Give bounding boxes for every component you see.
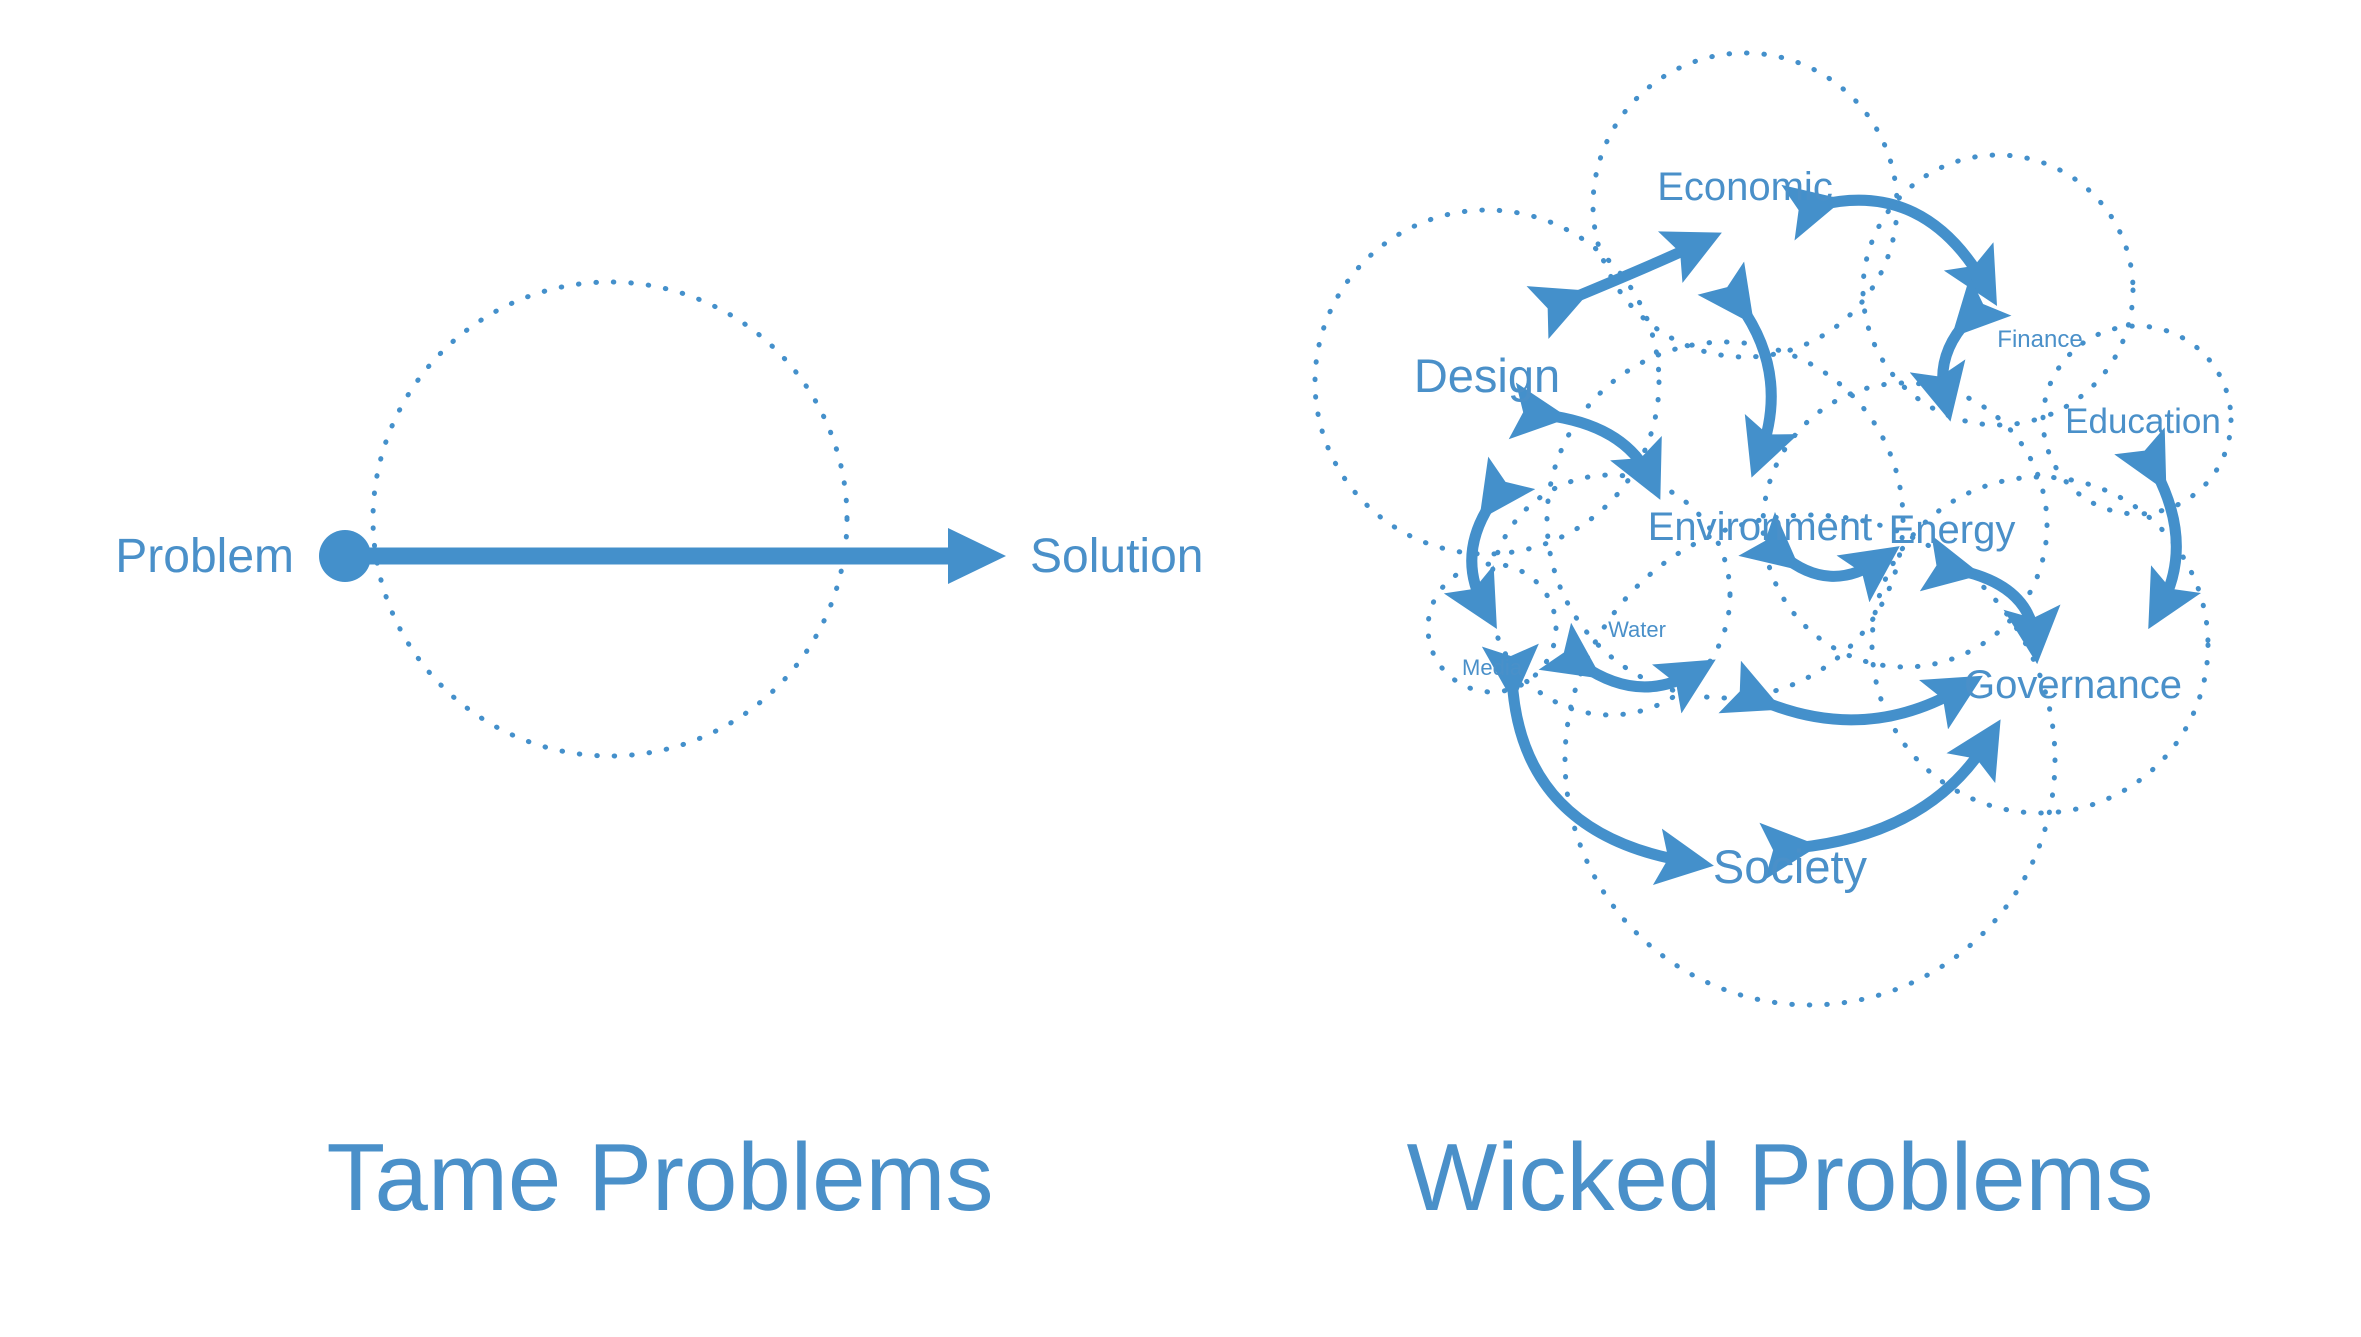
arrow-society-governance <box>1795 740 1988 848</box>
label-finance: Finance <box>1997 326 2082 353</box>
label-governance: Governance <box>1964 663 2182 707</box>
label-society: Society <box>1713 840 1868 893</box>
tame-boundary-circle <box>373 282 847 756</box>
arrow-design-environment <box>1545 415 1650 478</box>
wicked-tame-problems-diagram: Problem Solution Tame Problems <box>0 0 2361 1337</box>
wicked-problems-panel: Economic Design Finance Education Enviro… <box>1315 53 2231 1231</box>
circle-society <box>1565 515 2055 1005</box>
solution-label: Solution <box>1030 530 1203 583</box>
arrow-water-governance <box>1760 688 1962 720</box>
label-water: Water <box>1608 617 1666 642</box>
wicked-problems-caption: Wicked Problems <box>1407 1124 2154 1231</box>
label-energy: Energy <box>1889 508 2016 552</box>
problem-to-solution-arrow <box>319 528 1006 584</box>
label-design: Design <box>1414 349 1560 402</box>
arrow-finance-energy <box>1943 320 1968 398</box>
label-environment: Environment <box>1648 505 1873 549</box>
slide-canvas: Problem Solution Tame Problems <box>0 0 2361 1337</box>
label-economic: Economic <box>1657 165 1833 209</box>
arrow-economic-finance <box>1820 200 1985 285</box>
arrow-environment-energy <box>1782 555 1880 576</box>
arrow-energy-governance <box>1958 570 2035 640</box>
tame-problems-caption: Tame Problems <box>327 1124 994 1231</box>
wicked-node-labels: Economic Design Finance Education Enviro… <box>1414 165 2221 893</box>
arrow-education-governance <box>2155 470 2176 608</box>
arrow-head-icon <box>948 528 1006 584</box>
arrow-media-society <box>1512 678 1690 862</box>
tame-problems-panel: Problem Solution Tame Problems <box>115 282 1203 1231</box>
label-media: Media <box>1462 655 1523 680</box>
problem-label: Problem <box>115 530 294 583</box>
arrow-design-media <box>1472 500 1493 608</box>
arrow-economic-environment <box>1740 305 1771 455</box>
label-education: Education <box>2065 402 2221 441</box>
arrow-design-economic <box>1568 243 1700 300</box>
